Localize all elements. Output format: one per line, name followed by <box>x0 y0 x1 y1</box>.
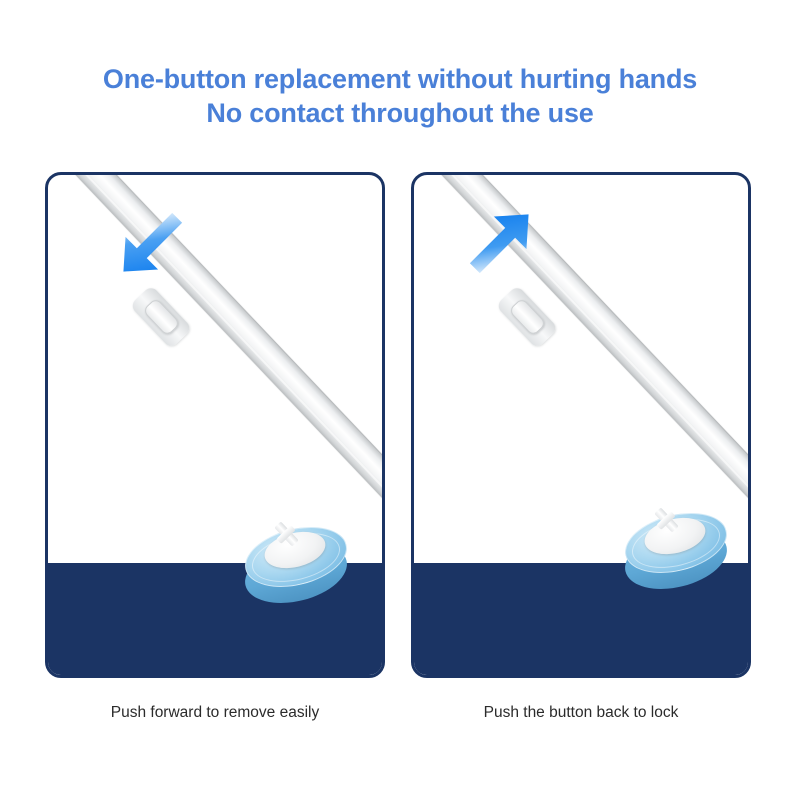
scene-remove <box>48 175 382 675</box>
panel-lock <box>411 172 751 678</box>
mop-handle-pole <box>48 175 382 675</box>
panel-remove <box>45 172 385 678</box>
caption-lock: Push the button back to lock <box>411 703 751 723</box>
caption-remove: Push forward to remove easily <box>45 703 385 723</box>
arrow-up-left-icon <box>456 197 546 287</box>
illustration-panels <box>0 0 800 800</box>
scene-lock <box>414 175 748 675</box>
arrow-down-right-icon <box>106 199 196 289</box>
